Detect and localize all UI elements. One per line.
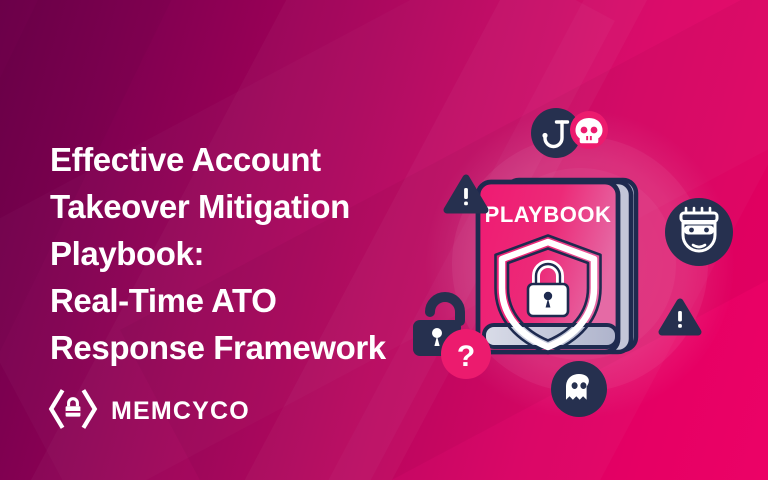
- headline-line-4: Real-Time ATO: [50, 277, 470, 324]
- memcyco-logo[interactable]: MEMCYCO: [48, 388, 250, 435]
- headline-line-2: Takeover Mitigation: [50, 183, 470, 230]
- logo-wordmark: MEMCYCO: [111, 397, 250, 426]
- book-title-text: PLAYBOOK: [485, 202, 612, 227]
- page-title: Effective Account Takeover Mitigation Pl…: [50, 136, 470, 371]
- promo-banner: Effective Account Takeover Mitigation Pl…: [0, 0, 768, 480]
- chevron-lock-logo-icon: [48, 388, 98, 435]
- playbook-book: PLAYBOOK: [478, 180, 636, 353]
- skull-icon: [570, 111, 608, 149]
- ghost-malware-icon: [551, 361, 607, 417]
- headline-line-1: Effective Account: [50, 136, 470, 183]
- burglar-mask-icon: [665, 198, 733, 266]
- headline-line-3: Playbook:: [50, 230, 470, 277]
- headline-line-5: Response Framework: [50, 324, 470, 371]
